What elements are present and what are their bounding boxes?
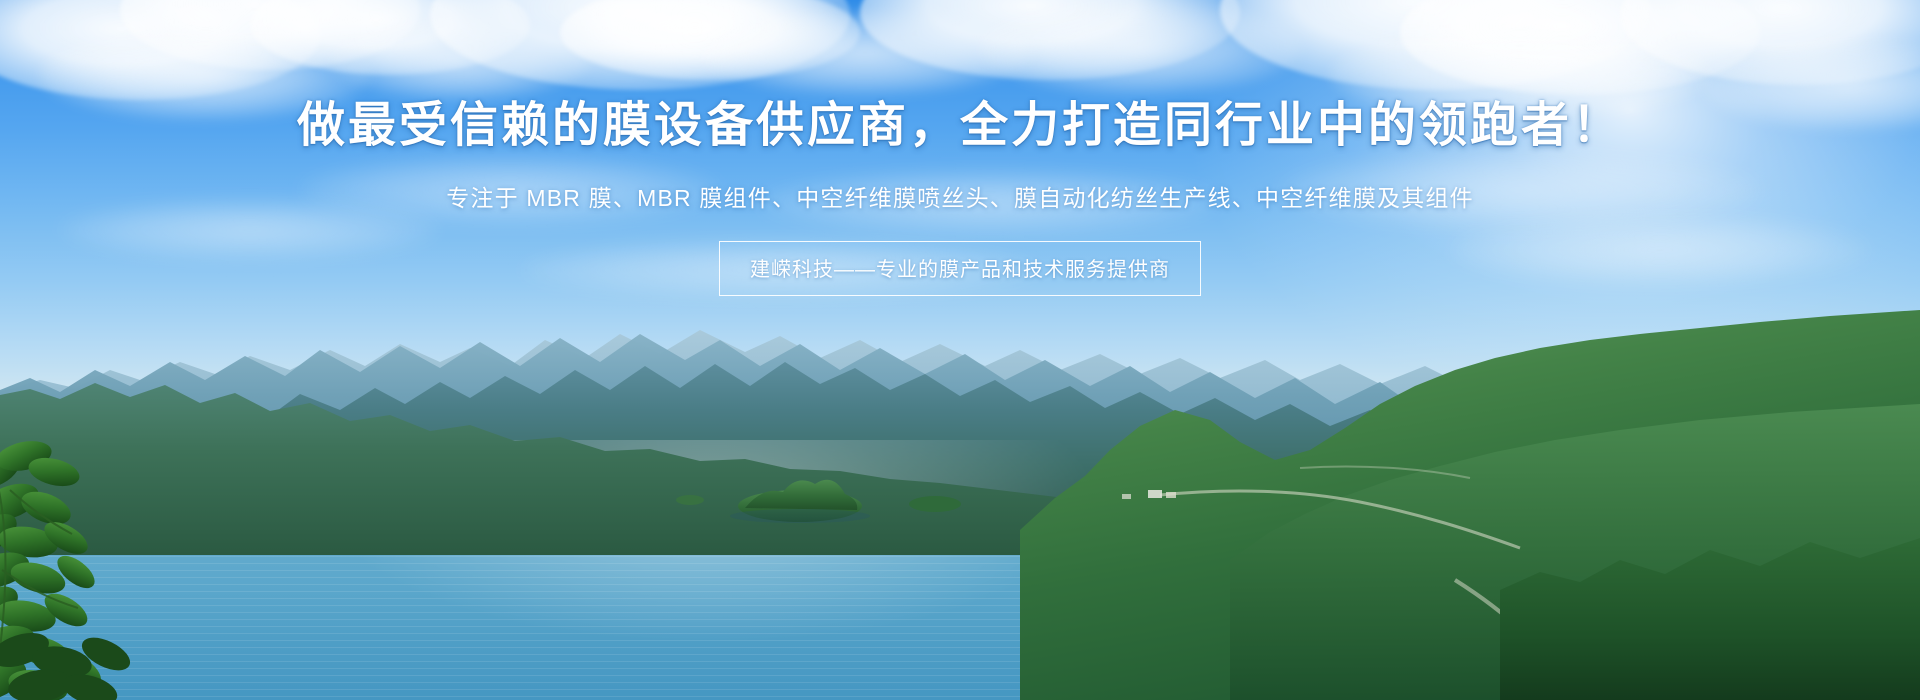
banner-text-block: 做最受信赖的膜设备供应商，全力打造同行业中的领跑者！ 专注于 MBR 膜、MBR…: [0, 0, 1920, 296]
banner-subtitle: 专注于 MBR 膜、MBR 膜组件、中空纤维膜喷丝头、膜自动化纺丝生产线、中空纤…: [0, 153, 1920, 213]
banner-tagline: 建嵘科技——专业的膜产品和技术服务提供商: [719, 241, 1201, 296]
near-shore-foliage: [0, 520, 1920, 700]
banner-headline: 做最受信赖的膜设备供应商，全力打造同行业中的领跑者！: [0, 0, 1920, 153]
shoreline-buildings: [0, 478, 1920, 518]
banner-tagline-wrapper: 建嵘科技——专业的膜产品和技术服务提供商: [0, 213, 1920, 296]
hero-banner: 做最受信赖的膜设备供应商，全力打造同行业中的领跑者！ 专注于 MBR 膜、MBR…: [0, 0, 1920, 700]
